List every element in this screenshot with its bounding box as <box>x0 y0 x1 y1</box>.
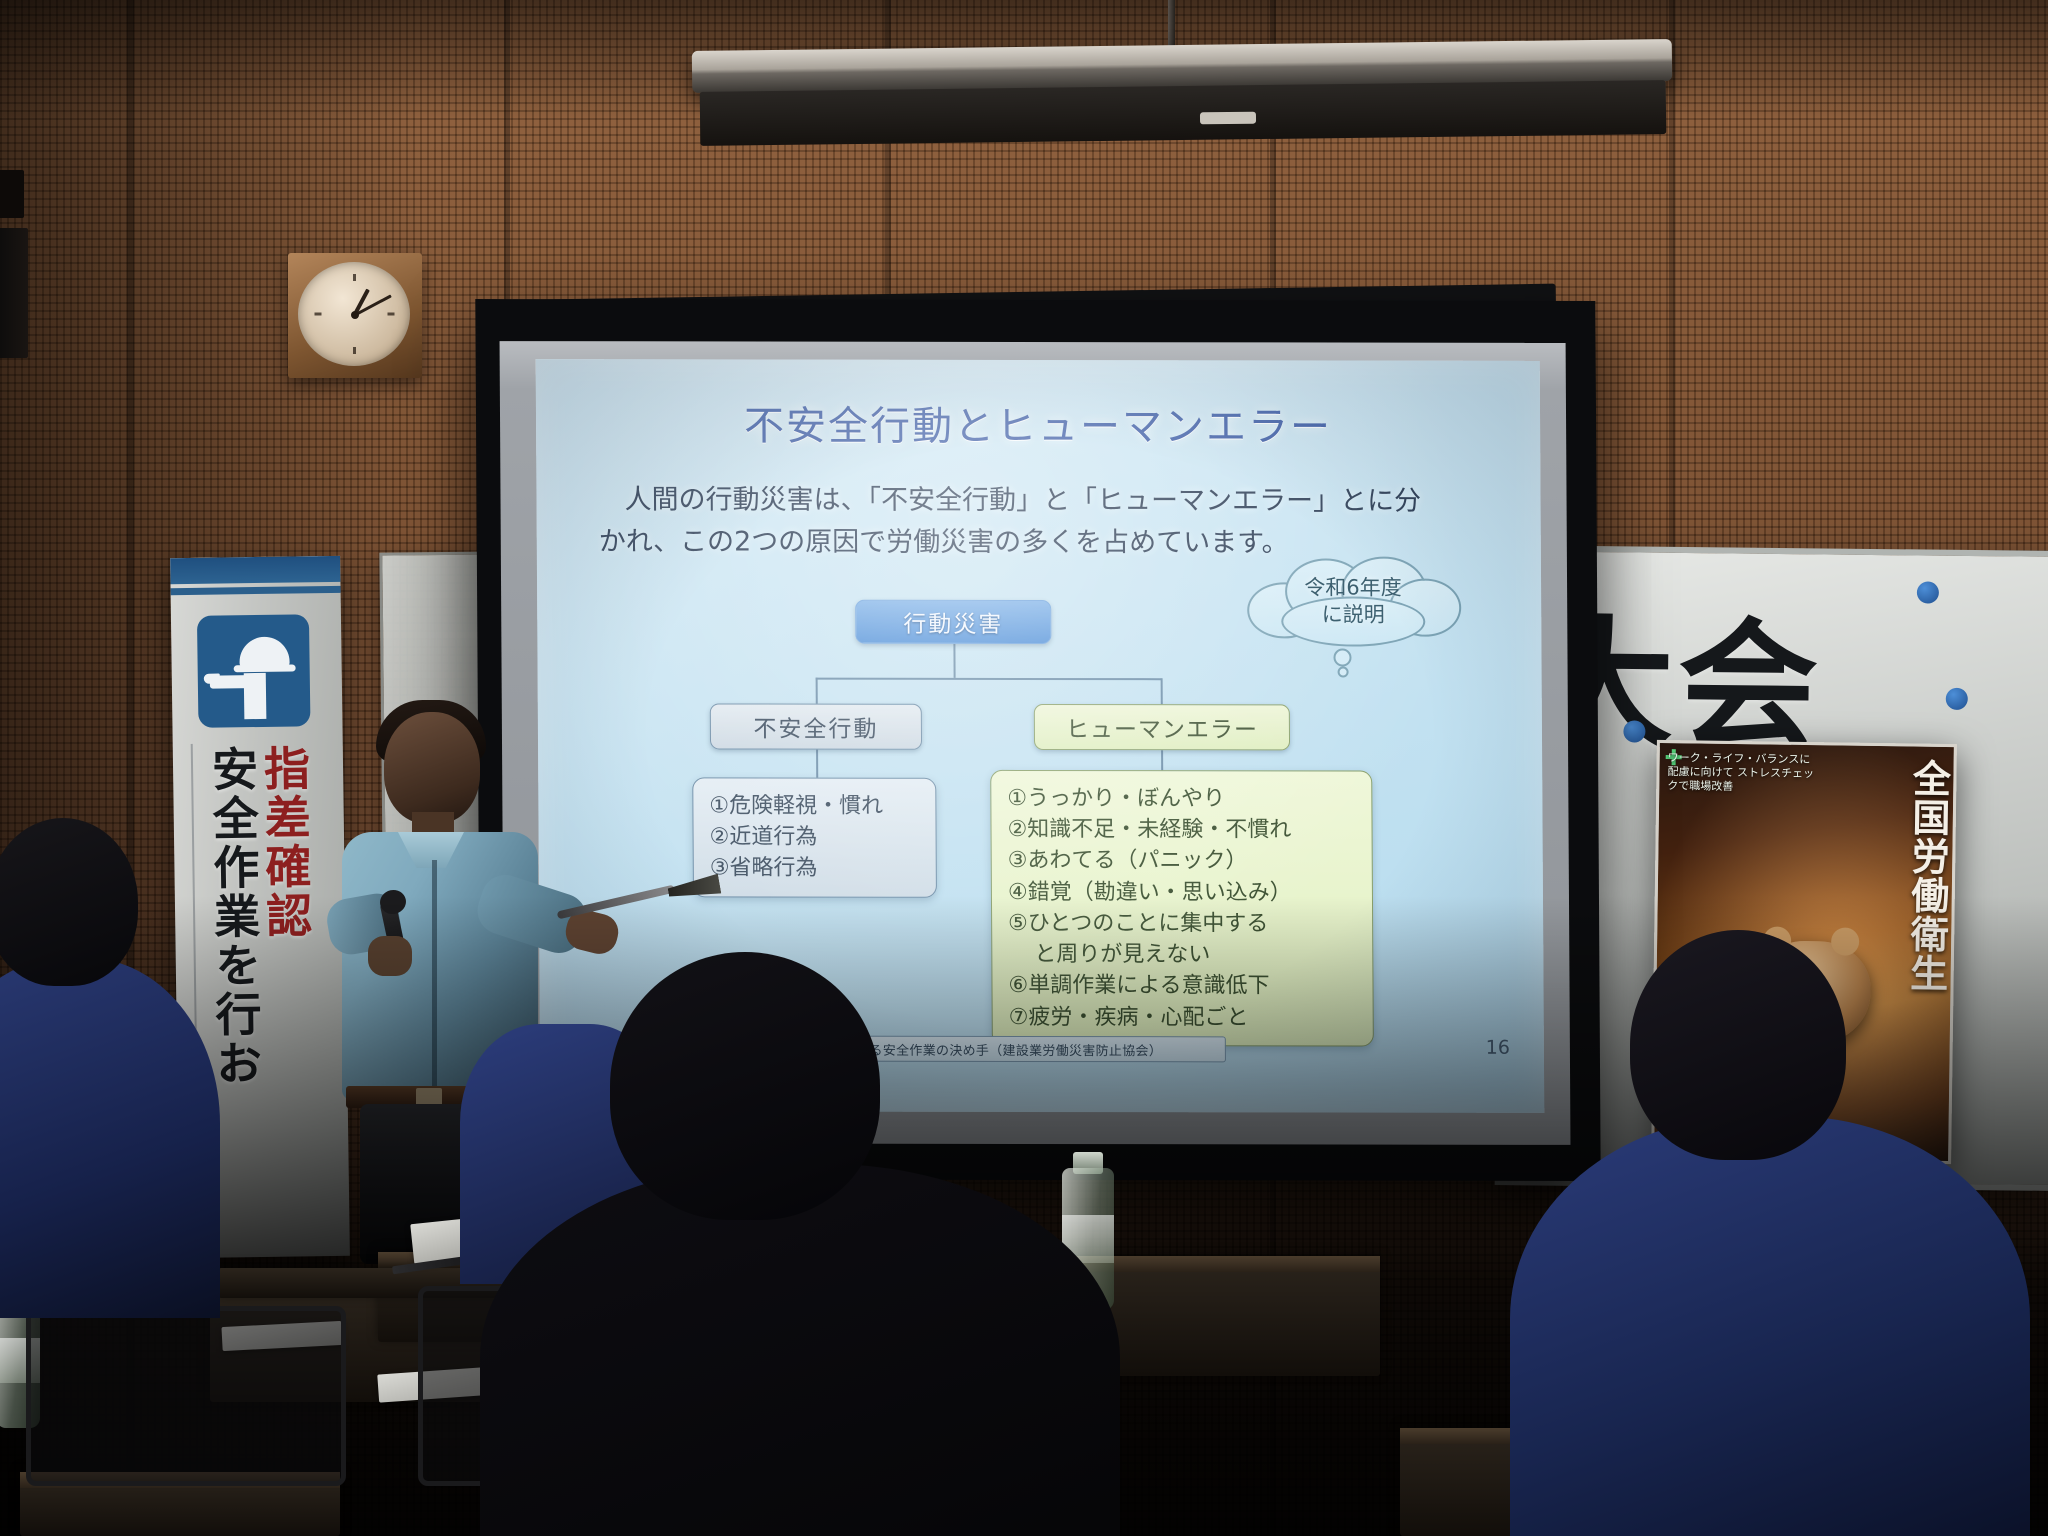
list-item: ①うっかり・ぼんやり <box>1007 783 1355 815</box>
presenter-head <box>384 712 480 824</box>
clock-face <box>298 262 410 366</box>
chair-left <box>26 1306 346 1486</box>
connector-horizontal <box>816 678 1162 681</box>
cloud-line-1: 令和6年度 <box>1237 574 1469 602</box>
cloud-line-2: に説明 <box>1237 602 1469 630</box>
flow-node-human-error: ヒューマンエラー <box>1034 704 1290 750</box>
connector-left-to-list <box>816 750 818 778</box>
cloud-tail-small <box>1338 667 1349 678</box>
clock-center <box>351 311 359 319</box>
wall-speaker-lower <box>0 228 28 358</box>
magnet-blue-3 <box>1623 720 1645 742</box>
thought-cloud-text: 令和6年度 に説明 <box>1237 574 1469 629</box>
photo-scene: 大会 ワーク・ライフ・バランスに配慮に向けて ストレスチェックで職場改善 全国労… <box>0 0 2048 1536</box>
cloud-tail-large <box>1333 649 1351 667</box>
magnet-blue-1 <box>1917 581 1939 603</box>
connector-to-right <box>1161 678 1163 704</box>
thought-cloud-annotation: 令和6年度 に説明 <box>1237 556 1470 648</box>
list-item: ③省略行為 <box>710 853 920 885</box>
audience-member-left <box>0 818 210 1298</box>
connector-root-down <box>953 644 955 678</box>
wall-speaker-upper <box>0 170 24 218</box>
banner-stripe <box>171 586 341 595</box>
connector-right-to-list <box>1161 750 1163 770</box>
magnet-blue-2 <box>1946 688 1968 710</box>
list-item: ②知識不足・未経験・不慣れ <box>1007 814 1355 846</box>
banner-header-band <box>170 556 340 584</box>
screen-pull-tab[interactable] <box>1200 112 1256 125</box>
flow-list-unsafe-behavior: ①危険軽視・慣れ ②近道行為 ③省略行為 <box>692 777 937 897</box>
connector-to-left <box>816 678 818 704</box>
pointing-worker-icon <box>197 614 311 728</box>
audience-member-center-foreground <box>500 952 1060 1536</box>
poster-top-note: ワーク・ライフ・バランスに配慮に向けて ストレスチェックで職場改善 <box>1667 751 1818 794</box>
flow-node-root: 行動災害 <box>855 600 1051 644</box>
flow-node-unsafe-behavior: 不安全行動 <box>710 703 922 749</box>
list-item: ②近道行為 <box>709 822 919 854</box>
wall-clock <box>288 253 422 378</box>
list-item: ①危険軽視・慣れ <box>709 790 919 822</box>
audience-member-right <box>1520 930 2000 1536</box>
list-item: ③あわてる（パニック） <box>1008 845 1356 877</box>
